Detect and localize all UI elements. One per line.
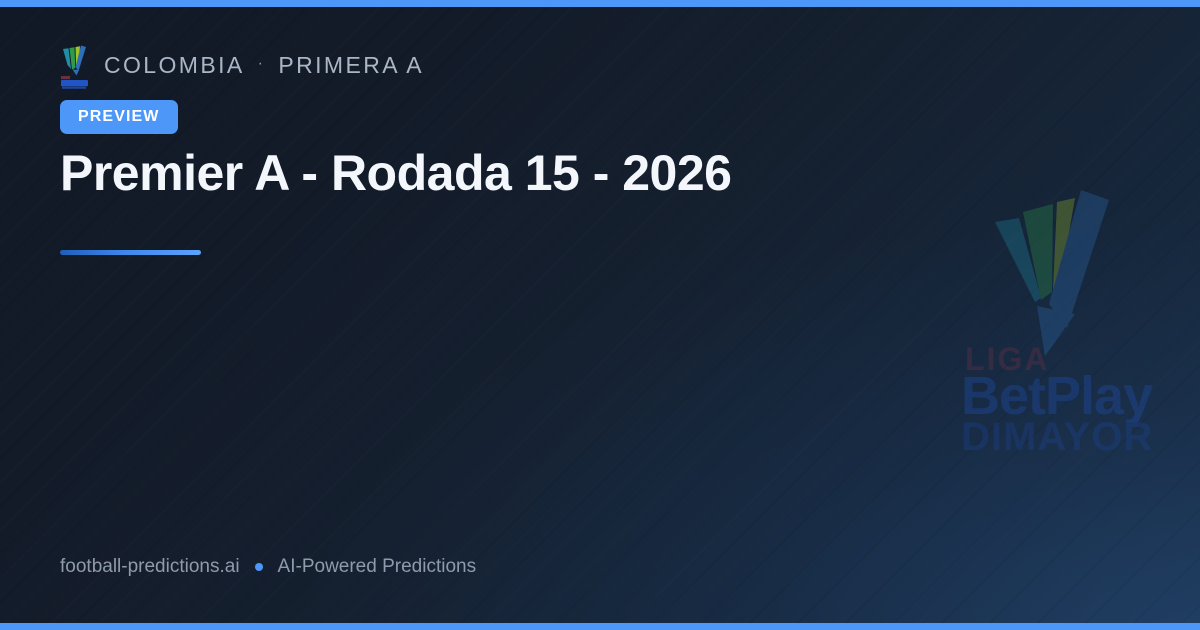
country-label: COLOMBIA — [104, 52, 245, 79]
top-accent-bar — [0, 0, 1200, 7]
breadcrumb-separator: · — [258, 56, 266, 72]
footer: football-predictions.ai AI-Powered Predi… — [60, 556, 476, 578]
bottom-accent-bar — [0, 623, 1200, 630]
league-header: COLOMBIA · PRIMERA A — [60, 41, 424, 89]
status-badge: PREVIEW — [60, 100, 178, 134]
liga-betplay-dimayor-logo-icon: LIGA BetPlay DIMAYOR — [957, 174, 1161, 456]
page-title: Premier A - Rodada 15 - 2026 — [60, 141, 920, 205]
competition-label: PRIMERA A — [278, 52, 424, 79]
footer-tagline: AI-Powered Predictions — [278, 556, 477, 578]
footer-site-label[interactable]: football-predictions.ai — [60, 556, 240, 578]
svg-text:DIMAYOR: DIMAYOR — [961, 415, 1153, 456]
bullet-dot-icon — [255, 563, 263, 571]
status-badge-label: PREVIEW — [78, 108, 160, 126]
title-accent-rule — [60, 250, 201, 255]
league-breadcrumb: COLOMBIA · PRIMERA A — [104, 52, 424, 79]
og-card: COLOMBIA · PRIMERA A PREVIEW Premier A -… — [0, 0, 1200, 630]
betplay-league-logo-icon — [60, 41, 90, 89]
